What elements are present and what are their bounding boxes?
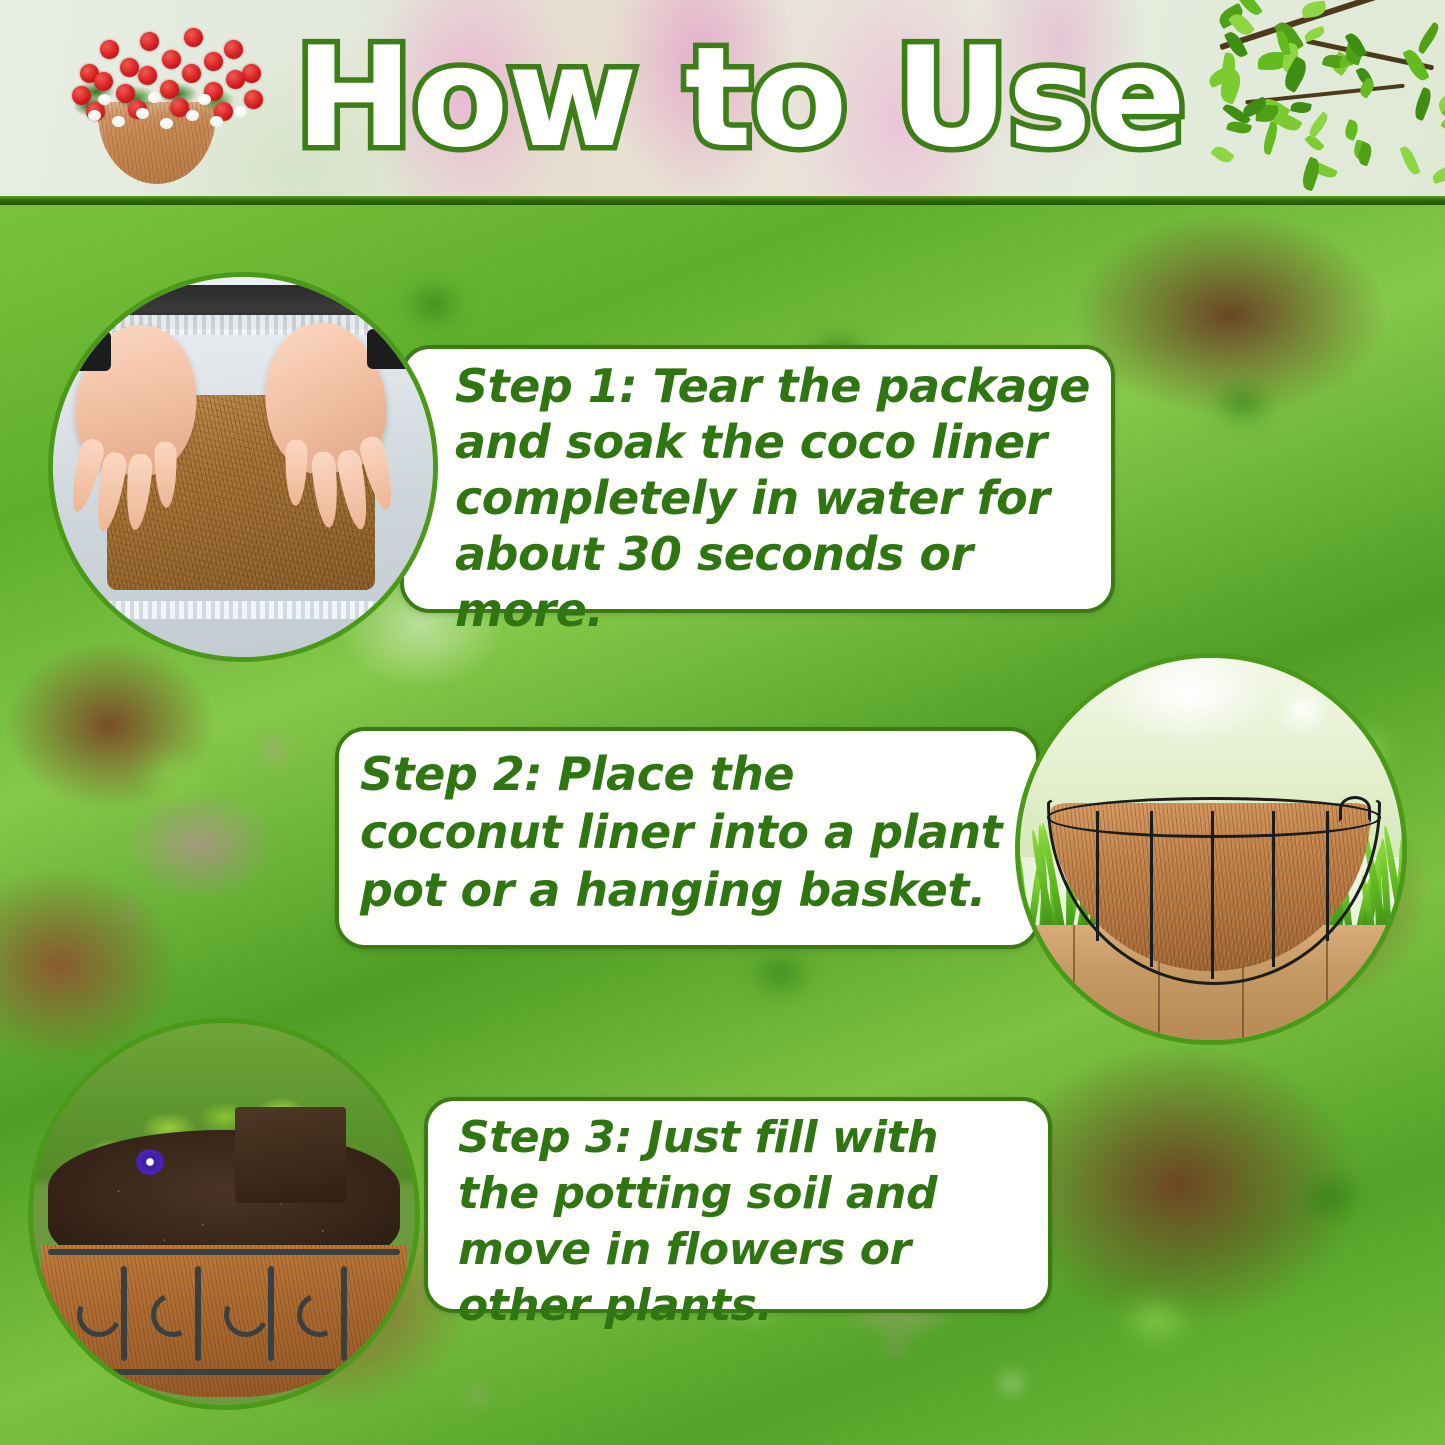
basket-rib	[1211, 811, 1214, 979]
tree-branch-leaves-icon	[1185, 0, 1445, 197]
white-filler-flower	[136, 108, 149, 119]
red-rose	[160, 80, 179, 99]
white-filler-flower	[186, 110, 199, 121]
basket-vertical-bar	[268, 1266, 274, 1361]
red-rose	[224, 40, 243, 59]
scroll-motif	[144, 1287, 200, 1343]
white-filler-flower	[198, 94, 211, 105]
basket-rib	[1326, 811, 1329, 941]
white-filler-flower	[234, 106, 247, 117]
leaf	[1411, 87, 1434, 121]
basket-rib	[1150, 811, 1153, 968]
red-rose	[100, 40, 119, 59]
page-title: How to Use	[291, 18, 1189, 178]
how-to-use-infographic: How to Use Step 1: Tear the package and …	[0, 0, 1445, 1445]
red-rose	[204, 52, 223, 71]
wire-basket-with-liner-photo	[1015, 653, 1407, 1045]
red-rose	[138, 66, 157, 85]
red-rose	[72, 86, 91, 105]
white-filler-flower	[210, 116, 223, 127]
header-banner: How to Use	[0, 0, 1445, 198]
leaf	[1260, 120, 1280, 154]
white-filler-flower	[112, 116, 125, 127]
basket-rib	[1096, 811, 1099, 941]
scroll-motif	[71, 1287, 127, 1343]
step-2-text: Step 2: Place the coconut liner into a p…	[360, 745, 1005, 919]
scroll-motif	[218, 1287, 274, 1343]
red-rose	[94, 72, 113, 91]
header-divider	[0, 196, 1445, 205]
leaf	[1290, 100, 1312, 114]
leaf	[1211, 143, 1236, 166]
root-ball	[235, 1107, 346, 1203]
sleeve	[59, 331, 111, 371]
sleeve	[367, 329, 419, 369]
basket-band-top	[48, 1249, 400, 1255]
step-3-text: Step 3: Just fill with the potting soil …	[458, 1110, 1028, 1334]
basket-vertical-bar	[195, 1266, 201, 1361]
red-rose	[184, 28, 203, 47]
red-rose	[120, 58, 139, 77]
leaf	[1431, 163, 1445, 184]
white-filler-flower	[148, 92, 161, 103]
leaf	[1306, 112, 1331, 139]
soaking-coco-liner-photo	[48, 272, 438, 662]
red-rose	[244, 90, 263, 109]
leaf	[1415, 22, 1442, 55]
decorative-basket	[41, 1245, 408, 1398]
leaf	[1441, 116, 1445, 141]
leaf	[1343, 119, 1361, 141]
basket-vertical-bar	[341, 1266, 347, 1361]
red-rose	[226, 70, 245, 89]
basket-vertical-bar	[121, 1266, 127, 1361]
red-rose	[162, 50, 181, 69]
planted-basket-photo	[28, 1018, 420, 1410]
hanging-flower-basket-icon	[28, 6, 278, 191]
red-rose	[140, 32, 159, 51]
white-filler-flower	[88, 110, 101, 121]
white-filler-flower	[160, 118, 173, 129]
package-seal-lower	[53, 601, 433, 619]
step-1-text: Step 1: Tear the package and soak the co…	[455, 358, 1100, 638]
leaf	[1400, 145, 1421, 177]
scroll-motif	[291, 1287, 347, 1343]
basket-rib	[1272, 811, 1275, 968]
red-rose	[182, 64, 201, 83]
white-filler-flower	[98, 94, 111, 105]
basket-band-bottom	[70, 1369, 378, 1375]
basket-hook	[1339, 796, 1371, 822]
purple-flower	[136, 1149, 164, 1175]
